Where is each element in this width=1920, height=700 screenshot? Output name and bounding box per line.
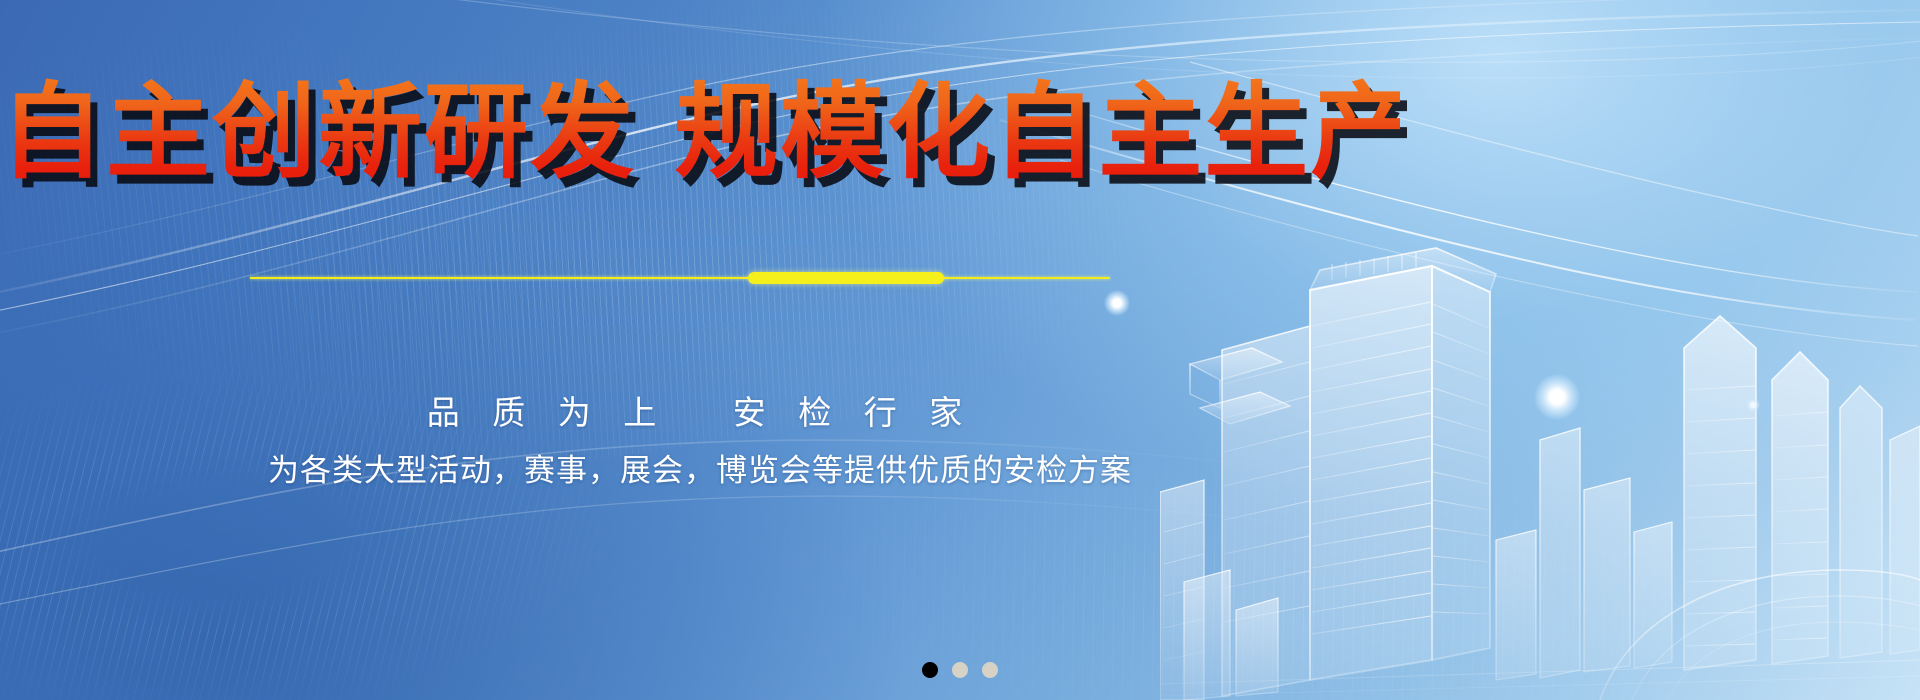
- glow-node-large: [1534, 374, 1580, 420]
- hero-banner: 自主创新研发 规模化自主生产 品 质 为 上 安 检 行 家 为各类大型活动，赛…: [0, 0, 1920, 700]
- divider-accent: [748, 272, 944, 284]
- banner-content: 自主创新研发 规模化自主生产 品 质 为 上 安 检 行 家 为各类大型活动，赛…: [0, 0, 1400, 700]
- carousel-dots[interactable]: [0, 662, 1920, 678]
- carousel-dot-1[interactable]: [922, 662, 938, 678]
- glow-node-tiny: [1746, 398, 1760, 412]
- banner-headline: 自主创新研发 规模化自主生产: [0, 72, 1400, 192]
- banner-tagline: 品 质 为 上 安 检 行 家: [0, 392, 1400, 434]
- carousel-dot-3[interactable]: [982, 662, 998, 678]
- title-divider: [250, 271, 1110, 285]
- banner-description: 为各类大型活动，赛事，展会，博览会等提供优质的安检方案: [0, 448, 1400, 494]
- divider-line: [250, 277, 1110, 279]
- carousel-dot-2[interactable]: [952, 662, 968, 678]
